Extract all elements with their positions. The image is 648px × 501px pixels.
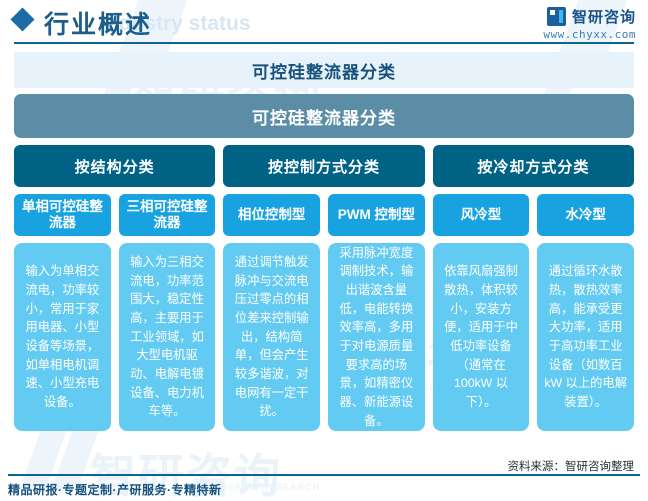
description-water-cooled: 通过循环水散热，散热效率高，能承受更大功率，适用于高功率工业设备（如数百 kW … <box>537 243 634 431</box>
description-air-cooled: 依靠风扇强制散热，体积较小，安装方便，适用于中低功率设备（通常在 100kW 以… <box>433 243 530 431</box>
description-text: 依靠风扇强制散热，体积较小，安装方便，适用于中低功率设备（通常在 100kW 以… <box>439 262 524 412</box>
description-single-phase: 输入为单相交流电，功率较小，常用于家用电器、小型设备等场景，如单相电机调速、小型… <box>14 243 111 431</box>
classification-diagram: 可控硅整流器分类 可控硅整流器分类 按结构分类 按控制方式分类 按冷却方式分类 … <box>0 52 648 431</box>
description-text: 采用脉冲宽度调制技术，输出谐波含量低，电能转换效率高，多用于对电源质量要求高的场… <box>334 244 419 431</box>
brand-logo: 智研咨询 <box>547 6 636 27</box>
description-text: 通过循环水散热，散热效率高，能承受更大功率，适用于高功率工业设备（如数百 kW … <box>543 262 628 412</box>
category-node-control: 按控制方式分类 <box>223 145 424 187</box>
description-pwm-control: 采用脉冲宽度调制技术，输出谐波含量低，电能转换效率高，多用于对电源质量要求高的场… <box>328 243 425 431</box>
description-three-phase: 输入为三相交流电，功率范围大，稳定性高，主要用于工业领域，如大型电机驱动、电解电… <box>119 243 216 431</box>
diagram-root-node: 可控硅整流器分类 <box>14 94 634 138</box>
subtype-row: 单相可控硅整流器 三相可控硅整流器 相位控制型 PWM 控制型 风冷型 水冷型 <box>14 194 634 236</box>
diamond-icon <box>10 7 34 31</box>
source-note: 资料来源：智研咨询整理 <box>508 458 635 474</box>
header-divider <box>14 42 634 44</box>
description-row: 输入为单相交流电，功率较小，常用于家用电器、小型设备等场景，如单相电机调速、小型… <box>14 243 634 431</box>
category-row: 按结构分类 按控制方式分类 按冷却方式分类 <box>14 145 634 187</box>
subtype-node-air-cooled: 风冷型 <box>433 194 530 236</box>
description-text: 通过调节触发脉冲与交流电压过零点的相位差来控制输出，结构简单，但会产生较多谐波，… <box>229 253 314 421</box>
subtype-node-pwm-control: PWM 控制型 <box>328 194 425 236</box>
subtype-node-three-phase: 三相可控硅整流器 <box>119 194 216 236</box>
diagram-title: 可控硅整流器分类 <box>14 52 634 88</box>
subtype-node-single-phase: 单相可控硅整流器 <box>14 194 111 236</box>
description-phase-control: 通过调节触发脉冲与交流电压过零点的相位差来控制输出，结构简单，但会产生较多谐波，… <box>223 243 320 431</box>
footer-tagline: 精品研报·专题定制·产研服务·专精特新 <box>8 481 222 498</box>
footer-divider <box>8 474 640 476</box>
subtype-node-phase-control: 相位控制型 <box>223 194 320 236</box>
brand-url: www.chyxx.com <box>543 28 636 41</box>
category-node-structure: 按结构分类 <box>14 145 215 187</box>
category-node-cooling: 按冷却方式分类 <box>433 145 634 187</box>
description-text: 输入为三相交流电，功率范围大，稳定性高，主要用于工业领域，如大型电机驱动、电解电… <box>125 253 210 421</box>
brand-name: 智研咨询 <box>572 6 636 27</box>
description-text: 输入为单相交流电，功率较小，常用于家用电器、小型设备等场景，如单相电机调速、小型… <box>20 262 105 412</box>
page-title: 行业概述 <box>44 5 152 41</box>
page-header: Industry status 行业概述 智研咨询 www.chyxx.com <box>0 0 648 48</box>
subtype-node-water-cooled: 水冷型 <box>537 194 634 236</box>
logo-icon <box>547 7 566 26</box>
